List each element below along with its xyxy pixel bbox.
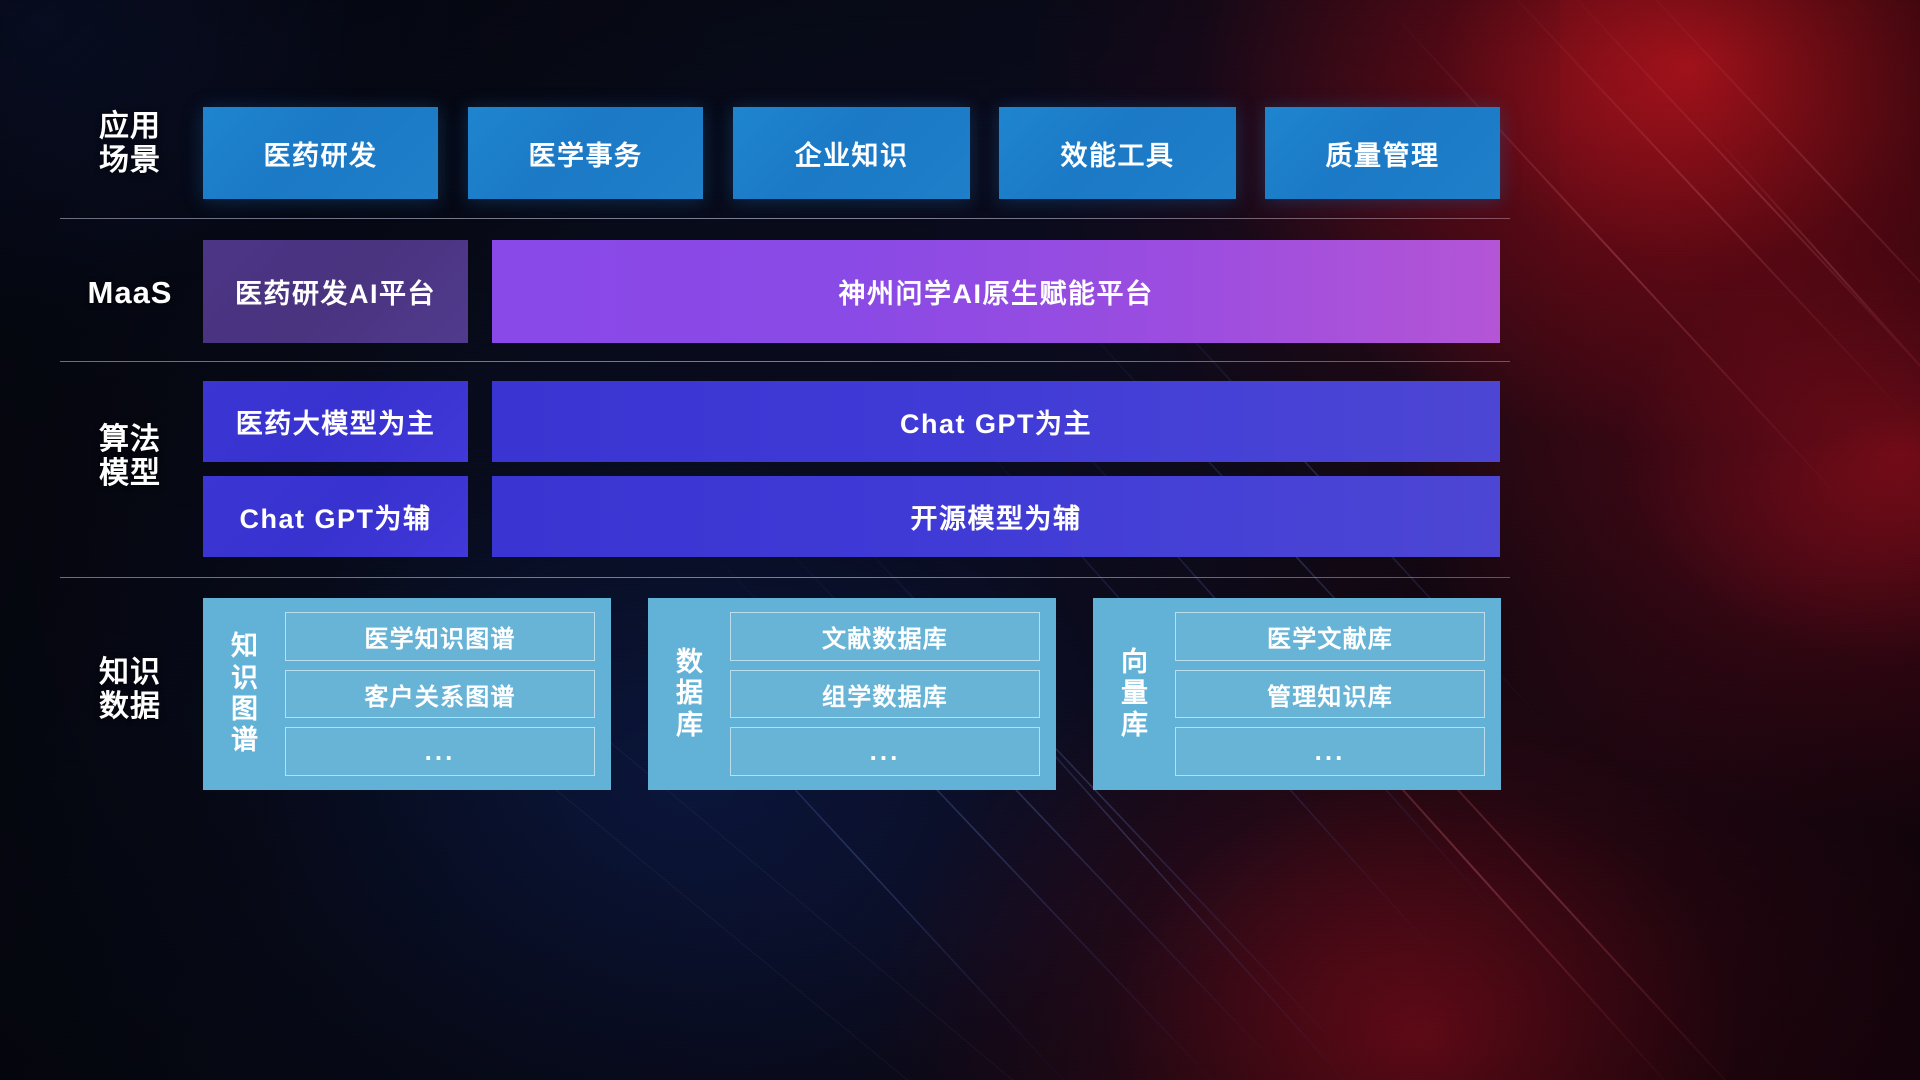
knowledge-item-more[interactable]: ...: [730, 727, 1040, 776]
knowledge-panel-3-title: 向量库: [1107, 612, 1163, 776]
knowledge-item[interactable]: 医学知识图谱: [285, 612, 595, 661]
scenario-box-3-label: 企业知识: [795, 134, 909, 173]
knowledge-panel-2[interactable]: 数据库 文献数据库 组学数据库 ...: [648, 598, 1056, 790]
knowledge-item-more[interactable]: ...: [285, 727, 595, 776]
knowledge-item-more[interactable]: ...: [1175, 727, 1485, 776]
algo-box-right-1-label: Chat GPT为主: [900, 402, 1092, 441]
divider-after-scenarios: [60, 218, 1510, 219]
scenario-box-4-label: 效能工具: [1061, 134, 1175, 173]
knowledge-panel-1[interactable]: 知识图谱 医学知识图谱 客户关系图谱 ...: [203, 598, 611, 790]
knowledge-panel-2-items: 文献数据库 组学数据库 ...: [730, 612, 1040, 776]
architecture-diagram: 应用 场景 医药研发 医学事务 企业知识 效能工具 质量管理 MaaS 医药研发…: [0, 0, 1920, 1080]
scenario-box-2[interactable]: 医学事务: [468, 107, 703, 199]
knowledge-panel-3-items: 医学文献库 管理知识库 ...: [1175, 612, 1485, 776]
knowledge-item[interactable]: 管理知识库: [1175, 670, 1485, 719]
scenario-box-4[interactable]: 效能工具: [999, 107, 1236, 199]
scenario-box-5[interactable]: 质量管理: [1265, 107, 1500, 199]
row-label-knowledge-data: 知识 数据: [70, 656, 190, 724]
algo-box-left-1-label: 医药大模型为主: [236, 402, 436, 441]
knowledge-item[interactable]: 客户关系图谱: [285, 670, 595, 719]
knowledge-panel-1-items: 医学知识图谱 客户关系图谱 ...: [285, 612, 595, 776]
algo-box-left-2-label: Chat GPT为辅: [239, 497, 431, 536]
knowledge-panel-1-title: 知识图谱: [217, 612, 273, 776]
maas-left-label: 医药研发AI平台: [235, 272, 436, 311]
algo-box-right-2[interactable]: 开源模型为辅: [492, 476, 1500, 557]
algo-box-right-1[interactable]: Chat GPT为主: [492, 381, 1500, 462]
knowledge-panel-3[interactable]: 向量库 医学文献库 管理知识库 ...: [1093, 598, 1501, 790]
knowledge-item[interactable]: 组学数据库: [730, 670, 1040, 719]
divider-after-maas: [60, 361, 1510, 362]
algo-box-right-2-label: 开源模型为辅: [911, 497, 1082, 536]
scenario-box-2-label: 医学事务: [529, 134, 643, 173]
knowledge-item[interactable]: 文献数据库: [730, 612, 1040, 661]
knowledge-panel-2-title: 数据库: [662, 612, 718, 776]
maas-right-box[interactable]: 神州问学AI原生赋能平台: [492, 240, 1500, 343]
scenario-box-1-label: 医药研发: [264, 134, 378, 173]
scenario-box-1[interactable]: 医药研发: [203, 107, 438, 199]
scenario-box-5-label: 质量管理: [1326, 134, 1440, 173]
algo-box-left-2[interactable]: Chat GPT为辅: [203, 476, 468, 557]
divider-after-algorithm: [60, 577, 1510, 578]
algo-box-left-1[interactable]: 医药大模型为主: [203, 381, 468, 462]
maas-left-box[interactable]: 医药研发AI平台: [203, 240, 468, 343]
row-label-application-scenarios: 应用 场景: [70, 110, 190, 178]
row-label-maas: MaaS: [70, 275, 190, 310]
maas-right-label: 神州问学AI原生赋能平台: [839, 272, 1154, 311]
knowledge-item[interactable]: 医学文献库: [1175, 612, 1485, 661]
row-label-algorithm-model: 算法 模型: [70, 423, 190, 491]
scenario-box-3[interactable]: 企业知识: [733, 107, 970, 199]
